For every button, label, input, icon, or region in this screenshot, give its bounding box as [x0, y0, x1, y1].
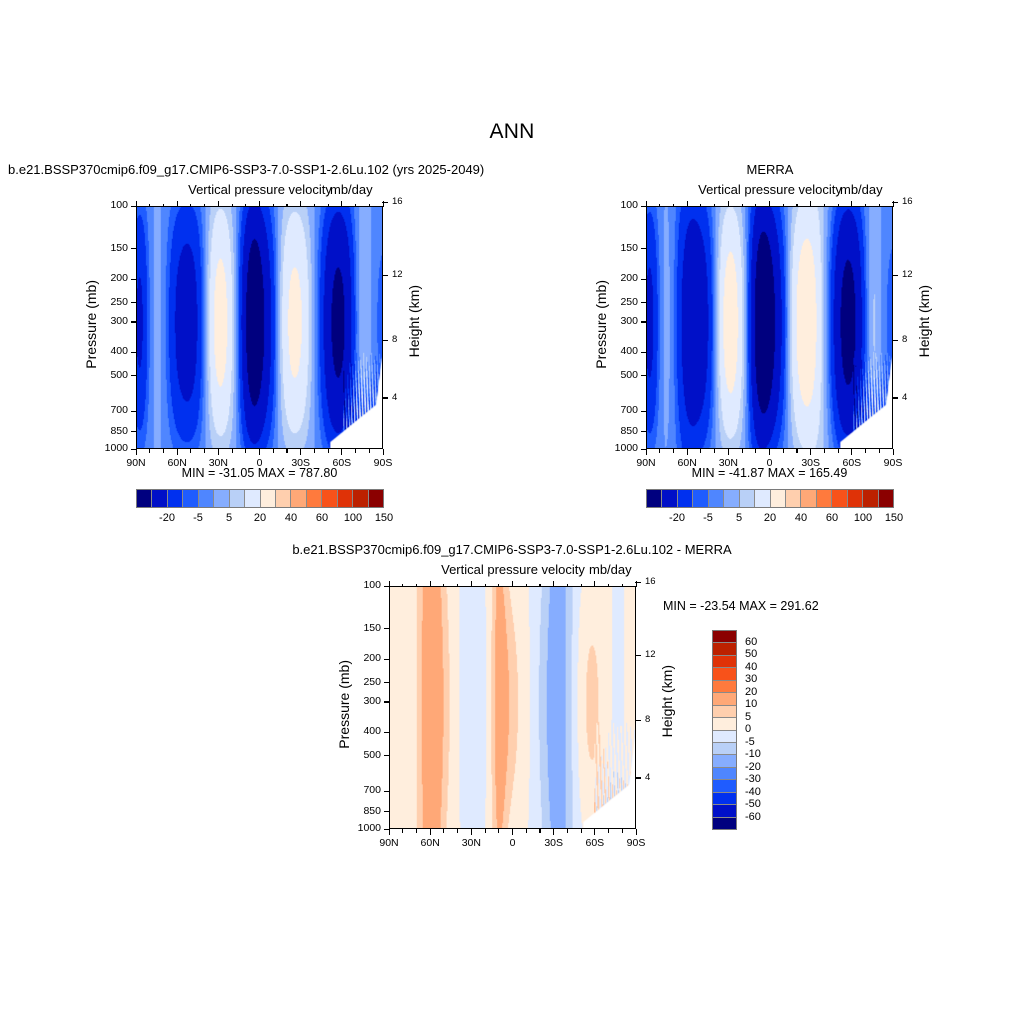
pressure-tick [384, 811, 390, 812]
pressure-tick [384, 755, 390, 756]
lat-tick-minor [700, 449, 701, 453]
colorbar-swatch-8 [771, 490, 786, 507]
lat-tick-minor [416, 829, 417, 833]
diff-colorbar-tick-label--50: -50 [745, 798, 761, 810]
lat-tick-minor [783, 449, 784, 453]
colorbar-swatch-3 [693, 490, 708, 507]
pressure-tick-label-850: 850 [94, 425, 128, 437]
lat-tick-major-top [218, 201, 219, 207]
lat-tick-label-30N: 30N [455, 837, 487, 849]
diff-colorbar-tick-label--10: -10 [745, 748, 761, 760]
pressure-tick [384, 701, 390, 702]
pressure-tick-label-400: 400 [347, 725, 381, 737]
colorbar-swatch-4 [199, 490, 214, 507]
colorbar-tick-label-150: 150 [364, 512, 404, 524]
lat-tick-minor-top [783, 204, 784, 208]
lat-tick-minor-top [838, 204, 839, 208]
colorbar-tick-label-150: 150 [874, 512, 914, 524]
lat-tick-minor-top [485, 584, 486, 588]
height-tick-label-12: 12 [645, 649, 665, 660]
pressure-tick [131, 449, 137, 450]
pressure-tick [131, 248, 137, 249]
height-tick-label-16: 16 [902, 196, 922, 207]
diff-colorbar-swatch-8 [713, 731, 736, 743]
height-tick-label-4: 4 [645, 772, 665, 783]
colorbar-swatch-12 [832, 490, 847, 507]
lat-tick-minor-top [232, 204, 233, 208]
lat-tick-minor [526, 829, 527, 833]
pressure-tick [641, 375, 647, 376]
colorbar-swatch-6 [230, 490, 245, 507]
lat-tick-major [471, 829, 472, 835]
diff-colorbar-tick-label-0: 0 [745, 723, 751, 735]
pressure-tick-label-500: 500 [347, 749, 381, 761]
pressure-tick-label-500: 500 [94, 369, 128, 381]
lat-tick-minor-top [273, 204, 274, 208]
colorbar-swatch-1 [152, 490, 167, 507]
lat-tick-minor [659, 449, 660, 453]
colorbar-swatch-5 [214, 490, 229, 507]
height-tick-label-4: 4 [392, 392, 412, 403]
diff-colorbar-tick-label-5: 5 [745, 711, 751, 723]
pressure-tick [641, 352, 647, 353]
lat-tick-minor-top [659, 204, 660, 208]
lat-tick-minor-top [402, 584, 403, 588]
diff-colorbar-swatch-10 [713, 755, 736, 767]
lat-tick-minor-top [796, 204, 797, 208]
colorbar-swatch-3 [183, 490, 198, 507]
diff-colorbar-tick-label--40: -40 [745, 786, 761, 798]
lat-tick-major-top [300, 201, 301, 207]
height-tick [382, 202, 388, 203]
model-y2-axis-label: Height (km) [406, 285, 422, 357]
colorbar-swatch-0 [647, 490, 662, 507]
lat-tick-minor [369, 449, 370, 453]
diff-minmax: MIN = -23.54 MAX = 291.62 [663, 599, 819, 613]
diff-y2-axis-label: Height (km) [659, 665, 675, 737]
diff-colorbar-swatch-12 [713, 780, 736, 792]
lat-tick-minor-top [581, 584, 582, 588]
pressure-tick [384, 628, 390, 629]
lat-tick-minor-top [865, 204, 866, 208]
lat-tick-label-30S: 30S [538, 837, 570, 849]
diff-colorbar-tick-label-40: 40 [745, 661, 757, 673]
lat-tick-minor-top [163, 204, 164, 208]
lat-tick-major [687, 449, 688, 455]
diff-colorbar-swatch-13 [713, 793, 736, 805]
colorbar-swatch-11 [817, 490, 832, 507]
main-title: ANN [0, 120, 1024, 144]
height-tick [892, 340, 898, 341]
pressure-tick-label-700: 700 [604, 404, 638, 416]
pressure-tick [384, 659, 390, 660]
height-tick-label-8: 8 [645, 714, 665, 725]
lat-tick-major [553, 829, 554, 835]
lat-tick-label-90N: 90N [120, 457, 152, 469]
lat-tick-minor-top [149, 204, 150, 208]
height-tick [635, 655, 641, 656]
lat-tick-minor-top [526, 584, 527, 588]
lat-tick-minor [567, 829, 568, 833]
lat-tick-label-90S: 90S [620, 837, 652, 849]
colorbar-swatch-2 [678, 490, 693, 507]
height-tick [635, 720, 641, 721]
lat-tick-minor [163, 449, 164, 453]
height-tick-label-12: 12 [902, 269, 922, 280]
height-tick-label-8: 8 [392, 334, 412, 345]
lat-tick-major [636, 829, 637, 835]
pressure-tick-label-200: 200 [94, 272, 128, 284]
lat-tick-minor-top [204, 204, 205, 208]
diff-colorbar-tick-label--20: -20 [745, 761, 761, 773]
lat-tick-major [383, 449, 384, 455]
lat-tick-major-top [259, 201, 260, 207]
lat-tick-minor [838, 449, 839, 453]
lat-tick-minor [608, 829, 609, 833]
pressure-tick [131, 431, 137, 432]
lat-tick-minor-top [328, 204, 329, 208]
diff-colorbar-tick-label--30: -30 [745, 773, 761, 785]
lat-tick-minor-top [673, 204, 674, 208]
lat-tick-label-90S: 90S [877, 457, 909, 469]
pressure-tick [641, 302, 647, 303]
diff-colorbar-tick-label-30: 30 [745, 673, 757, 685]
lat-tick-minor-top [567, 584, 568, 588]
diff-colorbar-swatch-7 [713, 718, 736, 730]
lat-tick-minor [328, 449, 329, 453]
pressure-tick [131, 279, 137, 280]
colorbar-swatch-15 [369, 490, 383, 507]
lat-tick-minor-top [416, 584, 417, 588]
lat-tick-minor [232, 449, 233, 453]
pressure-tick-label-250: 250 [94, 296, 128, 308]
lat-tick-minor-top [245, 204, 246, 208]
lat-tick-major-top [851, 201, 852, 207]
pressure-tick-label-1000: 1000 [94, 442, 128, 454]
pressure-tick [384, 829, 390, 830]
lat-tick-minor [355, 449, 356, 453]
diff-colorbar-swatch-6 [713, 706, 736, 718]
colorbar-swatch-10 [291, 490, 306, 507]
obs-contour-plot [646, 206, 893, 449]
obs-case-title: MERRA [646, 162, 894, 177]
height-tick-label-8: 8 [902, 334, 922, 345]
lat-tick-label-60N: 60N [161, 457, 193, 469]
lat-tick-label-90N: 90N [373, 837, 405, 849]
lat-tick-major [136, 449, 137, 455]
lat-tick-minor-top [369, 204, 370, 208]
obs-units: mb/day [840, 182, 883, 197]
lat-tick-major-top [728, 201, 729, 207]
lat-tick-minor-top [190, 204, 191, 208]
model-colorbar [136, 489, 384, 508]
pressure-tick-label-150: 150 [604, 242, 638, 254]
pressure-tick-label-150: 150 [94, 242, 128, 254]
height-tick [635, 777, 641, 778]
diff-colorbar-tick-label-50: 50 [745, 648, 757, 660]
colorbar-swatch-13 [848, 490, 863, 507]
lat-tick-major [893, 449, 894, 455]
lat-tick-minor [286, 449, 287, 453]
lat-tick-minor-top [608, 584, 609, 588]
pressure-tick-label-200: 200 [604, 272, 638, 284]
obs-colorbar [646, 489, 894, 508]
diff-colorbar-swatch-5 [713, 693, 736, 705]
colorbar-swatch-6 [740, 490, 755, 507]
lat-tick-minor [865, 449, 866, 453]
lat-tick-label-60N: 60N [414, 837, 446, 849]
lat-tick-label-0: 0 [497, 837, 529, 849]
height-tick-label-4: 4 [902, 392, 922, 403]
lat-tick-minor [314, 449, 315, 453]
lat-tick-label-30S: 30S [795, 457, 827, 469]
pressure-tick-label-150: 150 [347, 622, 381, 634]
model-contour-plot [136, 206, 383, 449]
lat-tick-label-30N: 30N [712, 457, 744, 469]
height-tick [892, 202, 898, 203]
diff-colorbar-swatch-4 [713, 681, 736, 693]
diff-colorbar-tick-label--5: -5 [745, 736, 755, 748]
lat-tick-minor-top [498, 584, 499, 588]
pressure-tick [384, 791, 390, 792]
lat-tick-minor-top [314, 204, 315, 208]
pressure-tick-label-850: 850 [347, 805, 381, 817]
lat-tick-minor [622, 829, 623, 833]
pressure-tick [641, 279, 647, 280]
height-tick [892, 275, 898, 276]
lat-tick-minor-top [755, 204, 756, 208]
lat-tick-minor [714, 449, 715, 453]
pressure-tick-label-100: 100 [604, 199, 638, 211]
lat-tick-major [728, 449, 729, 455]
lat-tick-minor-top [622, 584, 623, 588]
lat-tick-major [341, 449, 342, 455]
pressure-tick-label-500: 500 [604, 369, 638, 381]
pressure-tick-label-250: 250 [347, 676, 381, 688]
lat-tick-minor [824, 449, 825, 453]
lat-tick-minor [273, 449, 274, 453]
pressure-tick [131, 321, 137, 322]
pressure-tick [384, 586, 390, 587]
lat-tick-minor [673, 449, 674, 453]
colorbar-swatch-14 [863, 490, 878, 507]
pressure-tick [131, 375, 137, 376]
model-colorbar-labels: -20-55204060100150 [136, 512, 384, 528]
lat-tick-minor [742, 449, 743, 453]
lat-tick-label-60N: 60N [671, 457, 703, 469]
obs-plot-canvas [647, 207, 892, 448]
lat-tick-minor [581, 829, 582, 833]
lat-tick-minor-top [355, 204, 356, 208]
lat-tick-minor [204, 449, 205, 453]
lat-tick-major-top [471, 581, 472, 587]
colorbar-swatch-12 [322, 490, 337, 507]
lat-tick-major-top [687, 201, 688, 207]
pressure-tick [641, 431, 647, 432]
lat-tick-label-90N: 90N [630, 457, 662, 469]
lat-tick-label-60S: 60S [579, 837, 611, 849]
colorbar-swatch-7 [245, 490, 260, 507]
diff-colorbar-swatch-3 [713, 668, 736, 680]
pressure-tick [131, 411, 137, 412]
pressure-tick-label-700: 700 [347, 784, 381, 796]
pressure-tick [641, 206, 647, 207]
lat-tick-minor-top [286, 204, 287, 208]
lat-tick-label-90S: 90S [367, 457, 399, 469]
colorbar-swatch-9 [786, 490, 801, 507]
colorbar-swatch-4 [709, 490, 724, 507]
lat-tick-minor [402, 829, 403, 833]
diff-colorbar-swatch-15 [713, 818, 736, 829]
height-tick-label-16: 16 [645, 576, 665, 587]
colorbar-swatch-1 [662, 490, 677, 507]
colorbar-swatch-5 [724, 490, 739, 507]
model-case-title: b.e21.BSSP370cmip6.f09_g17.CMIP6-SSP3-7.… [8, 162, 484, 177]
diff-colorbar-swatch-9 [713, 743, 736, 755]
diff-colorbar-swatch-0 [713, 631, 736, 643]
diff-colorbar-tick-label-10: 10 [745, 698, 757, 710]
pressure-tick-label-300: 300 [604, 315, 638, 327]
diff-colorbar-tick-label-20: 20 [745, 686, 757, 698]
obs-colorbar-labels: -20-55204060100150 [646, 512, 894, 528]
pressure-tick-label-100: 100 [347, 579, 381, 591]
diff-case-title: b.e21.BSSP370cmip6.f09_g17.CMIP6-SSP3-7.… [0, 542, 1024, 557]
lat-tick-label-0: 0 [754, 457, 786, 469]
pressure-tick-label-850: 850 [604, 425, 638, 437]
pressure-tick [131, 206, 137, 207]
pressure-tick [641, 449, 647, 450]
colorbar-swatch-2 [168, 490, 183, 507]
diff-colorbar-tick-label-60: 60 [745, 636, 757, 648]
diff-plot-canvas [390, 587, 635, 828]
pressure-tick [384, 732, 390, 733]
lat-tick-minor [498, 829, 499, 833]
lat-tick-major-top [341, 201, 342, 207]
height-tick-label-12: 12 [392, 269, 412, 280]
pressure-tick-label-200: 200 [347, 652, 381, 664]
lat-tick-major [389, 829, 390, 835]
lat-tick-major [177, 449, 178, 455]
height-tick [382, 397, 388, 398]
colorbar-swatch-15 [879, 490, 893, 507]
lat-tick-minor-top [879, 204, 880, 208]
lat-tick-minor [149, 449, 150, 453]
lat-tick-major-top [769, 201, 770, 207]
lat-tick-major [430, 829, 431, 835]
pressure-tick [641, 248, 647, 249]
pressure-tick-label-250: 250 [604, 296, 638, 308]
lat-tick-minor-top [457, 584, 458, 588]
lat-tick-major-top [810, 201, 811, 207]
colorbar-swatch-0 [137, 490, 152, 507]
lat-tick-minor-top [824, 204, 825, 208]
diff-colorbar-swatch-1 [713, 643, 736, 655]
pressure-tick [641, 321, 647, 322]
lat-tick-minor [539, 829, 540, 833]
pressure-tick-label-400: 400 [604, 345, 638, 357]
colorbar-swatch-10 [801, 490, 816, 507]
pressure-tick [384, 682, 390, 683]
lat-tick-major [512, 829, 513, 835]
diff-contour-plot [389, 586, 636, 829]
colorbar-swatch-14 [353, 490, 368, 507]
diff-colorbar [712, 630, 737, 830]
colorbar-swatch-7 [755, 490, 770, 507]
lat-tick-label-30S: 30S [285, 457, 317, 469]
pressure-tick [131, 352, 137, 353]
model-plot-canvas [137, 207, 382, 448]
height-tick [892, 397, 898, 398]
lat-tick-major-top [512, 581, 513, 587]
lat-tick-minor [796, 449, 797, 453]
colorbar-swatch-9 [276, 490, 291, 507]
lat-tick-major [218, 449, 219, 455]
lat-tick-minor [457, 829, 458, 833]
diff-colorbar-swatch-14 [713, 805, 736, 817]
height-tick [635, 582, 641, 583]
lat-tick-label-30N: 30N [202, 457, 234, 469]
pressure-tick-label-700: 700 [94, 404, 128, 416]
pressure-tick-label-400: 400 [94, 345, 128, 357]
lat-tick-major [259, 449, 260, 455]
pressure-tick [641, 411, 647, 412]
lat-tick-major-top [430, 581, 431, 587]
lat-tick-minor-top [539, 584, 540, 588]
diff-colorbar-swatch-11 [713, 768, 736, 780]
pressure-tick-label-1000: 1000 [347, 822, 381, 834]
colorbar-swatch-13 [338, 490, 353, 507]
lat-tick-major-top [594, 581, 595, 587]
lat-tick-minor-top [443, 584, 444, 588]
height-tick-label-16: 16 [392, 196, 412, 207]
lat-tick-minor [485, 829, 486, 833]
pressure-tick-label-100: 100 [94, 199, 128, 211]
model-units: mb/day [330, 182, 373, 197]
pressure-tick [131, 302, 137, 303]
lat-tick-major [810, 449, 811, 455]
pressure-tick-label-1000: 1000 [604, 442, 638, 454]
diff-units: mb/day [589, 562, 632, 577]
height-tick [382, 340, 388, 341]
lat-tick-minor [879, 449, 880, 453]
height-tick [382, 275, 388, 276]
diff-colorbar-labels: 60504030201050-5-10-20-30-40-50-60 [741, 630, 781, 830]
lat-tick-major [300, 449, 301, 455]
lat-tick-minor [245, 449, 246, 453]
lat-tick-major [769, 449, 770, 455]
lat-tick-major-top [177, 201, 178, 207]
lat-tick-label-60S: 60S [836, 457, 868, 469]
lat-tick-minor-top [714, 204, 715, 208]
lat-tick-label-0: 0 [244, 457, 276, 469]
obs-y2-axis-label: Height (km) [916, 285, 932, 357]
lat-tick-major-top [553, 581, 554, 587]
lat-tick-label-60S: 60S [326, 457, 358, 469]
lat-tick-minor [443, 829, 444, 833]
pressure-tick-label-300: 300 [347, 695, 381, 707]
lat-tick-major [594, 829, 595, 835]
colorbar-swatch-11 [307, 490, 322, 507]
diff-colorbar-tick-label--60: -60 [745, 811, 761, 823]
lat-tick-minor-top [700, 204, 701, 208]
lat-tick-major [851, 449, 852, 455]
lat-tick-major [646, 449, 647, 455]
colorbar-swatch-8 [261, 490, 276, 507]
diff-colorbar-swatch-2 [713, 656, 736, 668]
lat-tick-minor [190, 449, 191, 453]
lat-tick-minor [755, 449, 756, 453]
pressure-tick-label-300: 300 [94, 315, 128, 327]
